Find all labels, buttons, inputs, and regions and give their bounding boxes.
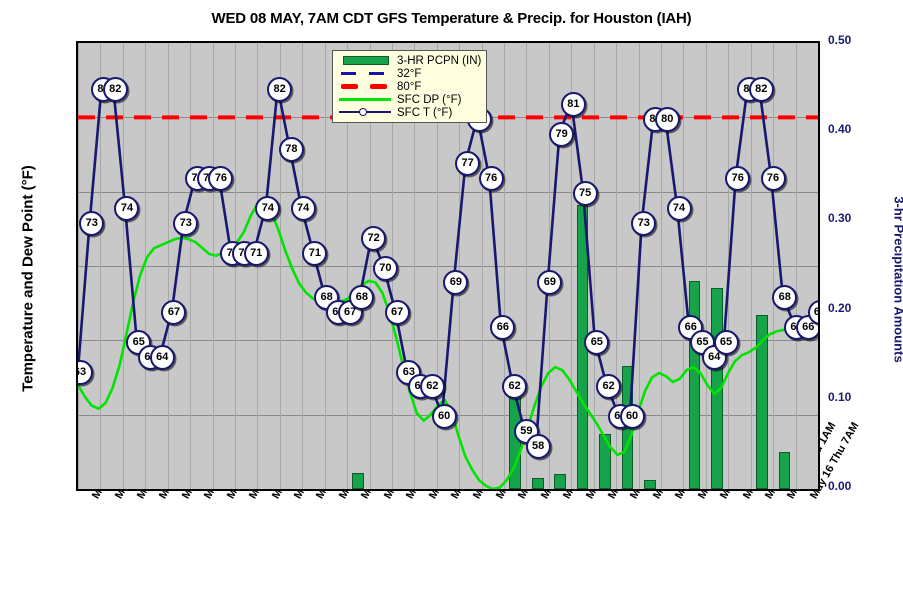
legend-label: SFC DP (°F) [397,94,461,106]
temperature-point-label: 64 [150,345,175,370]
legend-item: 80°F [337,80,481,93]
legend-label: 3-HR PCPN (IN) [397,55,481,67]
legend-label: 32°F [397,68,421,80]
legend-swatch-dashed-blue [337,68,393,79]
temperature-point-label: 71 [244,241,269,266]
chart-legend: 3-HR PCPN (IN)32°F80°FSFC DP (°F)SFC T (… [332,50,487,123]
legend-item: SFC T (°F) [337,106,481,119]
legend-swatch-bar [337,55,393,66]
temperature-point-label: 73 [173,211,198,236]
legend-label: SFC T (°F) [397,107,452,119]
legend-swatch-dashed-red [337,81,393,92]
temperature-point-label: 70 [373,256,398,281]
y-tick-label-right: 0.30 [828,211,888,225]
legend-swatch-solid-green [337,94,393,105]
temperature-point-label: 60 [432,404,457,429]
y-tick-label-right: 0.50 [828,33,888,47]
temperature-point-label: 65 [584,330,609,355]
legend-item: 3-HR PCPN (IN) [337,54,481,67]
temperature-point-label: 82 [749,77,774,102]
temperature-point-label: 74 [291,196,316,221]
temperature-point-label: 65 [714,330,739,355]
temperature-point-label: 58 [526,434,551,459]
temperature-point-label: 71 [302,241,327,266]
y-tick-label-right: 0.10 [828,390,888,404]
temperature-point-label: 76 [761,166,786,191]
y-tick-label-right: 0.40 [828,122,888,136]
temperature-point-label: 74 [667,196,692,221]
temperature-point-label: 67 [385,300,410,325]
weather-chart: WED 08 MAY, 7AM CDT GFS Temperature & Pr… [0,0,903,613]
y-tick-label-right: 0.00 [828,479,888,493]
gridline-vertical [818,43,819,489]
temperature-point-label: 79 [549,122,574,147]
temperature-point-label: 80 [655,107,680,132]
legend-label: 80°F [397,81,421,93]
temperature-point-label: 73 [79,211,104,236]
legend-item: SFC DP (°F) [337,93,481,106]
legend-swatch-marker-navy [337,107,393,118]
legend-item: 32°F [337,67,481,80]
temperature-point-label: 76 [479,166,504,191]
temperature-point-label: 72 [361,226,386,251]
temperature-point-label: 60 [620,404,645,429]
y-axis-left-title: Temperature and Dew Point (°F) [20,129,37,429]
temperature-curve [78,88,818,445]
temperature-point-label: 75 [573,181,598,206]
y-tick-label-right: 0.20 [828,301,888,315]
chart-title: WED 08 MAY, 7AM CDT GFS Temperature & Pr… [0,10,903,27]
temperature-point-label: 82 [103,77,128,102]
temperature-point-label: 81 [561,92,586,117]
y-axis-right-title: 3-hr Precipitation Amounts [892,130,903,430]
temperature-point-label: 78 [279,137,304,162]
